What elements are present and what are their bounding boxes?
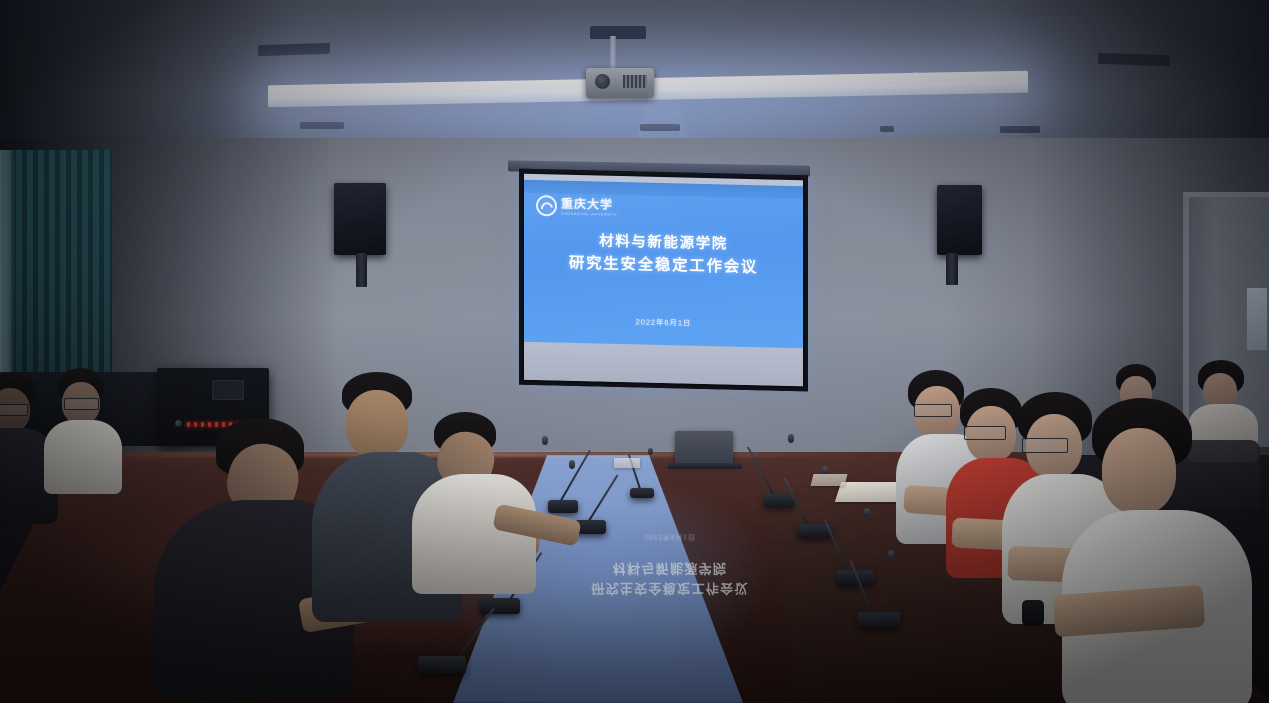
ceiling-projector	[586, 68, 654, 98]
screen-blank-area	[524, 342, 803, 387]
table-reflection-line2: 材料与新能源学院	[565, 558, 775, 578]
wall-speaker-right	[937, 185, 982, 255]
recessed-light-icon	[640, 124, 680, 131]
slide-title: 材料与新能源学院 研究生安全稳定工作会议	[524, 230, 803, 279]
led-indicator	[194, 422, 197, 427]
laptop[interactable]	[675, 431, 733, 464]
led-indicator	[215, 422, 218, 427]
mic-base	[630, 488, 654, 498]
mic-base	[480, 598, 520, 614]
table-reflection-line1: 研究生安全稳定工作会议	[565, 578, 775, 598]
table-reflection-title: 研究生安全稳定工作会议 材料与新能源学院	[565, 558, 775, 597]
mic-base	[764, 494, 794, 507]
av-rack-knob[interactable]	[175, 420, 182, 427]
wall-speaker-left	[334, 183, 386, 255]
recessed-light-icon	[880, 126, 894, 132]
logo-chinese-name: 重庆大学	[561, 197, 618, 210]
university-logo: 重庆大学 CHONGQING UNIVERSITY	[536, 195, 618, 218]
notebook	[835, 482, 903, 502]
wristband	[1022, 600, 1044, 626]
head	[1102, 428, 1176, 514]
mic-capsule-icon	[888, 550, 894, 559]
mic-capsule-icon	[542, 436, 548, 445]
mic-base	[418, 656, 466, 674]
eyeglasses-icon	[1022, 438, 1068, 453]
ceiling-shadow-left	[0, 0, 300, 150]
mic-capsule-icon	[788, 434, 794, 443]
logo-english-name: CHONGQING UNIVERSITY	[561, 211, 618, 216]
notebook	[614, 458, 640, 468]
eyeglasses-icon	[0, 404, 28, 416]
screen-surface: 重庆大学 CHONGQING UNIVERSITY 材料与新能源学院 研究生安全…	[524, 174, 803, 387]
meeting-room-photo: 重庆大学 CHONGQING UNIVERSITY 材料与新能源学院 研究生安全…	[0, 0, 1269, 703]
projector-vent	[623, 75, 647, 88]
projection-screen: 重庆大学 CHONGQING UNIVERSITY 材料与新能源学院 研究生安全…	[519, 169, 808, 392]
head	[346, 390, 408, 458]
speaker-bracket	[356, 253, 367, 287]
led-indicator	[201, 422, 204, 427]
slide-date: 2022年6月1日	[524, 314, 803, 332]
led-indicator	[208, 422, 211, 427]
presentation-slide: 重庆大学 CHONGQING UNIVERSITY 材料与新能源学院 研究生安全…	[524, 180, 803, 351]
laptop-base	[668, 463, 742, 469]
projector-lens-icon	[595, 74, 610, 89]
mic-base	[858, 612, 900, 628]
mic-capsule-icon	[864, 508, 870, 517]
led-indicator	[187, 422, 190, 427]
torso	[44, 420, 122, 494]
projector-ceiling-plate	[590, 26, 646, 39]
eyeglasses-icon	[914, 404, 952, 417]
eyeglasses-icon	[64, 398, 99, 410]
mic-capsule-icon	[569, 460, 575, 469]
mic-capsule-icon	[648, 448, 653, 455]
speaker-cabinet	[334, 183, 386, 255]
av-rack-panel	[212, 380, 244, 400]
mic-base	[548, 500, 578, 513]
notebook	[811, 474, 848, 486]
recessed-light-icon	[1000, 126, 1040, 133]
led-indicator	[222, 422, 225, 427]
speaker-cabinet	[937, 185, 982, 255]
wall-notice	[1247, 288, 1267, 350]
recessed-light-icon	[300, 122, 344, 129]
university-emblem-icon	[536, 195, 557, 216]
speaker-bracket	[946, 253, 958, 285]
eyeglasses-icon	[964, 426, 1006, 440]
table-reflection-date: 2022年6月1日	[600, 532, 740, 542]
